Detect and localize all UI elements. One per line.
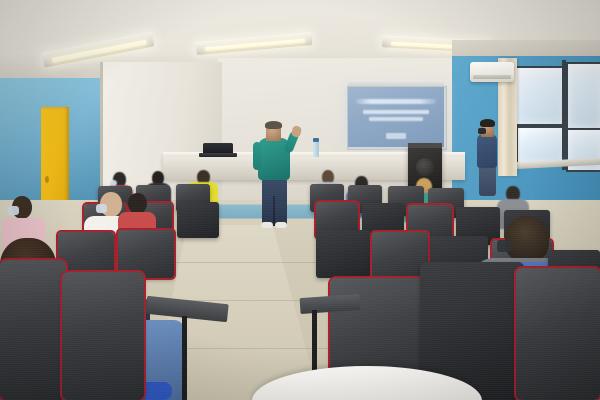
slide-title-line [356, 99, 437, 104]
yellow-door[interactable] [41, 107, 69, 211]
slide-body-line-1 [363, 110, 428, 114]
table-row[interactable] [516, 268, 600, 400]
table-row[interactable] [316, 230, 370, 278]
loudspeaker-cone-icon [416, 158, 434, 176]
laptop-base [199, 153, 237, 157]
air-conditioner-vent [473, 75, 511, 79]
presenter-shoe-left [261, 222, 273, 228]
chair-leg [182, 316, 187, 400]
water-bottle[interactable] [313, 141, 319, 157]
table-row[interactable] [118, 230, 174, 278]
loudspeaker-top [408, 143, 442, 148]
face-mask-icon [478, 128, 486, 134]
slide-body-line-2 [369, 117, 423, 121]
presenter-hair [265, 121, 282, 129]
window-2 [566, 62, 600, 130]
attendee-head [128, 193, 147, 214]
table-row[interactable] [177, 202, 219, 238]
projection-screen [348, 87, 444, 147]
water-bottle-cap [313, 138, 319, 142]
face-mask-icon [8, 206, 19, 215]
face-mask-icon [497, 240, 511, 252]
table-row[interactable] [62, 272, 144, 400]
standing-attendee-hair [480, 119, 495, 127]
presenter-shoe-right [275, 222, 287, 228]
presenter-leg-gap [273, 196, 275, 226]
window-mullion [562, 60, 566, 170]
table-row[interactable] [0, 260, 66, 400]
slide-logo [386, 133, 405, 139]
attendee-head [505, 216, 549, 262]
classroom-photo [0, 0, 600, 400]
standing-attendee-legs [479, 166, 496, 196]
air-conditioner [470, 62, 514, 82]
presenter-arm-left [253, 142, 261, 170]
door-knob-icon[interactable] [45, 176, 49, 183]
standing-attendee-torso [477, 134, 497, 168]
face-mask-icon [96, 204, 107, 213]
window-1 [514, 66, 568, 126]
